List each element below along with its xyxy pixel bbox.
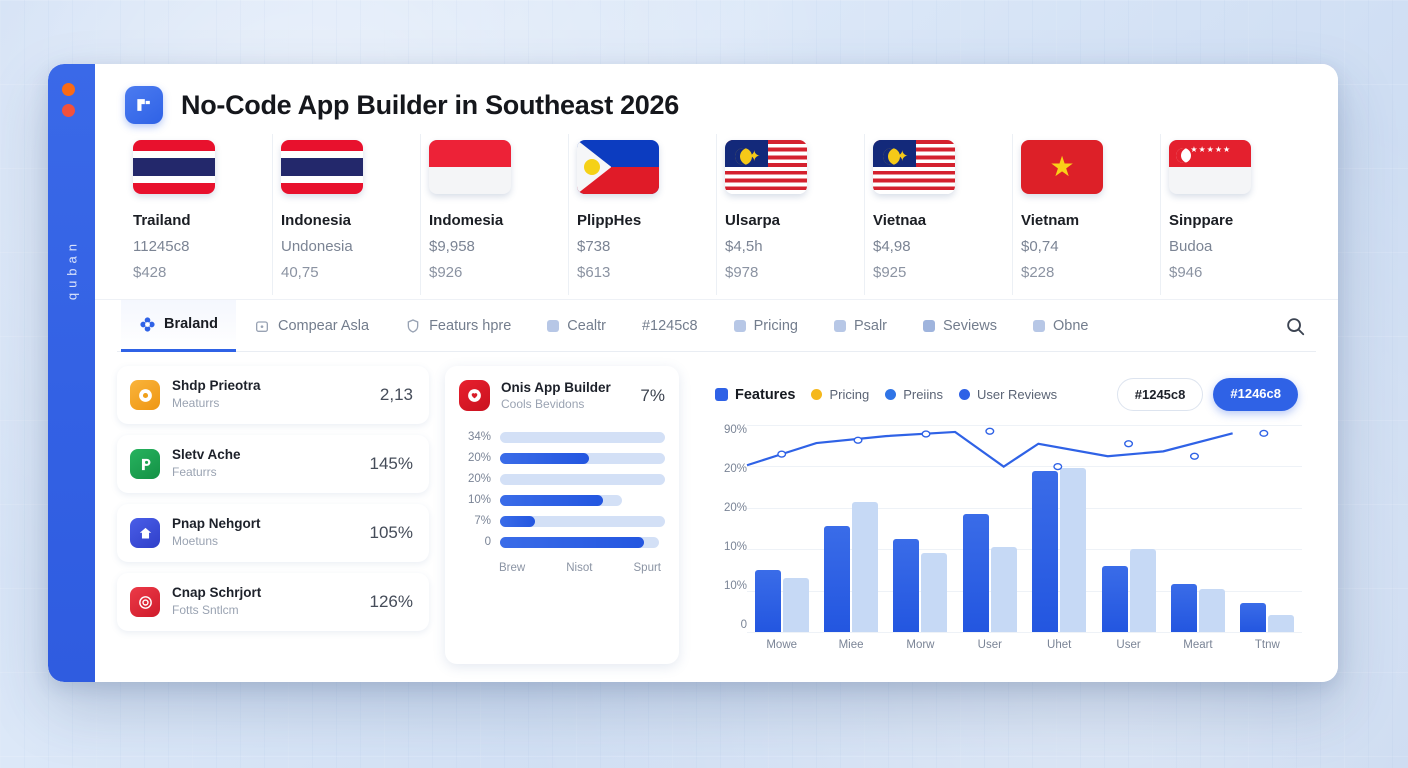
list-item[interactable]: Cnap Schrjort Fotts Sntlcm 126% — [117, 573, 429, 631]
list-item-value: 105% — [370, 523, 413, 543]
country-name: Vietnam — [1021, 212, 1152, 229]
bar-pricing — [783, 578, 809, 632]
list-item[interactable]: Sletv Ache Featurrs 145% — [117, 435, 429, 493]
line-marker — [778, 451, 786, 457]
country-value-secondary: $228 — [1021, 264, 1152, 281]
hbar-label: 0 — [459, 536, 491, 548]
y-tick: 20% — [705, 503, 747, 515]
country-value-secondary: $613 — [577, 264, 708, 281]
country-name: Indonesia — [281, 212, 412, 229]
country-value-primary: $4,98 — [873, 238, 1004, 255]
country-value-secondary: $925 — [873, 264, 1004, 281]
hbar-row: 7% — [459, 515, 665, 527]
line-marker — [1260, 430, 1268, 436]
tab-braland[interactable]: Braland — [121, 300, 236, 352]
mid-card-percent: 7% — [640, 386, 665, 406]
tab-featurs-hpre[interactable]: Featurs hpre — [387, 300, 529, 352]
bar-features — [1102, 566, 1128, 632]
line-markers — [747, 425, 1302, 494]
square-icon — [923, 320, 935, 332]
x-tick: User — [955, 639, 1024, 651]
country-value-secondary: $428 — [133, 264, 264, 281]
tab-label: Featurs hpre — [429, 318, 511, 334]
country-value-primary: Undonesia — [281, 238, 412, 255]
hbar-label: 7% — [459, 515, 491, 527]
bar-features — [1032, 471, 1058, 632]
bar-features — [893, 539, 919, 632]
x-tick: User — [1094, 639, 1163, 651]
y-tick: 10% — [705, 581, 747, 593]
bar-pricing — [1130, 549, 1156, 632]
pill-solid[interactable]: #1246c8 — [1213, 378, 1298, 411]
list-item-subtitle: Featurrs — [172, 464, 358, 480]
country-card[interactable]: Indomesia $9,958 $926 — [421, 134, 569, 295]
country-value-primary: 11245c8 — [133, 238, 264, 255]
x-tick: Morw — [886, 639, 955, 651]
chart-legend: Features Pricing Preiins User Revie — [705, 374, 1302, 411]
tab-bar: Braland Compear Asla Featurs hpre C — [117, 300, 1316, 352]
tab-label: Cealtr — [567, 318, 606, 334]
vietnam-flag-icon: ★ — [1021, 140, 1103, 194]
plot-area: Mowe Miee Morw User Uhet User Meart Ttnw — [747, 425, 1302, 658]
square-icon — [834, 320, 846, 332]
pill-outline[interactable]: #1245c8 — [1117, 378, 1204, 411]
hbar-row: 0 — [459, 536, 665, 548]
country-stats-row: Trailand 11245c8 $428 Indonesia Undonesi… — [125, 134, 1308, 295]
tab-label: Braland — [164, 316, 218, 332]
bar-pricing — [852, 502, 878, 632]
hbar-label: 20% — [459, 473, 491, 485]
country-card[interactable]: ✦ Vietnaa $4,98 $925 — [865, 134, 1013, 295]
country-name: Indomesia — [429, 212, 560, 229]
panels: Shdp Prieotra Meaturrs 2,13 Sletv Ache F… — [117, 352, 1316, 664]
x-tick: Meart — [1163, 639, 1232, 651]
list-item-subtitle: Meaturrs — [172, 395, 368, 411]
mid-card-x-labels: Brew Nisot Spurt — [459, 562, 665, 574]
tab-hex-1245c8[interactable]: #1245c8 — [624, 300, 716, 352]
line-marker — [1125, 441, 1133, 447]
line-marker — [1191, 453, 1199, 459]
search-icon — [1284, 315, 1306, 337]
legend-swatch — [885, 389, 896, 400]
country-value-primary: $4,5h — [725, 238, 856, 255]
square-icon — [1033, 320, 1045, 332]
tab-label: Pricing — [754, 318, 798, 334]
mid-card: Onis App Builder Cools Bevidons 7% 34% 2… — [445, 366, 679, 664]
orange-dot-icon[interactable] — [62, 83, 75, 96]
country-value-primary: $9,958 — [429, 238, 560, 255]
tab-cealtr[interactable]: Cealtr — [529, 300, 624, 352]
country-name: Sinppare — [1169, 212, 1300, 229]
country-value-primary: $0,74 — [1021, 238, 1152, 255]
hbar-track — [500, 474, 665, 485]
legend-label: User Reviews — [977, 387, 1057, 402]
list-item-text: Cnap Schrjort Fotts Sntlcm — [172, 585, 358, 618]
list-item-value: 126% — [370, 592, 413, 612]
letter-p-green-icon — [130, 449, 160, 479]
hbar-label: 34% — [459, 431, 491, 443]
legend-label: Pricing — [829, 387, 869, 402]
x-axis: Mowe Miee Morw User Uhet User Meart Ttnw — [747, 632, 1302, 658]
line-marker — [1054, 464, 1062, 470]
country-value-secondary: $926 — [429, 264, 560, 281]
list-item-text: Sletv Ache Featurrs — [172, 447, 358, 480]
tag-icon — [254, 318, 270, 334]
tab-label: Compear Asla — [278, 318, 369, 334]
list-item[interactable]: Pnap Nehgort Moetuns 105% — [117, 504, 429, 562]
tab-compear-asla[interactable]: Compear Asla — [236, 300, 387, 352]
country-value-primary: $738 — [577, 238, 708, 255]
country-value-secondary: $978 — [725, 264, 856, 281]
bar-pricing — [921, 553, 947, 632]
y-axis: 90% 20% 20% 10% 10% 0 — [705, 425, 747, 658]
country-card[interactable]: ★★★★★ Sinppare Budoa $946 — [1161, 134, 1308, 295]
x-tick: Spurt — [634, 562, 662, 574]
tab-seviews[interactable]: Seviews — [905, 300, 1015, 352]
legend-item-user-reviews: User Reviews — [959, 387, 1057, 402]
heart-red-icon — [459, 380, 490, 411]
x-tick: Nisot — [566, 562, 592, 574]
header: No-Code App Builder in Southeast 2026 Tr… — [95, 64, 1338, 300]
bar-pricing — [991, 547, 1017, 632]
country-value-secondary: 40,75 — [281, 264, 412, 281]
tab-label: Psalr — [854, 318, 887, 334]
hbar-row: 20% — [459, 452, 665, 464]
list-item-value: 145% — [370, 454, 413, 474]
tab-pricing[interactable]: Pricing — [716, 300, 816, 352]
bar-pricing — [1268, 615, 1294, 632]
app-window: quban No-Code App Builder in Southeast 2… — [48, 64, 1338, 682]
thailand-flag-icon — [281, 140, 363, 194]
thailand-flag-icon — [133, 140, 215, 194]
square-icon — [734, 320, 746, 332]
sidebar[interactable]: quban — [48, 64, 95, 682]
line-marker — [854, 437, 862, 443]
country-name: Vietnaa — [873, 212, 1004, 229]
title-row: No-Code App Builder in Southeast 2026 — [125, 86, 1308, 124]
list-item-title: Pnap Nehgort — [172, 516, 358, 533]
list-item-text: Shdp Prieotra Meaturrs — [172, 378, 368, 411]
legend-swatch — [959, 389, 970, 400]
page-title: No-Code App Builder in Southeast 2026 — [181, 90, 679, 121]
list-item-title: Shdp Prieotra — [172, 378, 368, 395]
hbar-track — [500, 432, 665, 443]
x-tick: Mowe — [747, 639, 816, 651]
tab-label: Obne — [1053, 318, 1088, 334]
line-marker — [922, 431, 930, 437]
circle-orange-icon — [130, 380, 160, 410]
line-marker — [986, 428, 994, 434]
philippines-flag-icon — [577, 140, 659, 194]
malaysia-flag-icon: ✦ — [725, 140, 807, 194]
square-icon — [547, 320, 559, 332]
hbar-row: 34% — [459, 431, 665, 443]
plot-wrapper: 90% 20% 20% 10% 10% 0 — [705, 411, 1302, 658]
mid-card-header: Onis App Builder Cools Bevidons 7% — [459, 380, 665, 411]
hbar-track — [500, 495, 622, 506]
bar-features — [1240, 603, 1266, 632]
country-name: Trailand — [133, 212, 264, 229]
country-card[interactable]: ★ Vietnam $0,74 $228 — [1013, 134, 1161, 295]
hbar-track — [500, 516, 665, 527]
x-tick: Uhet — [1025, 639, 1094, 651]
hbar-label: 10% — [459, 494, 491, 506]
hbar-track — [500, 453, 665, 464]
country-card[interactable]: PlippHes $738 $613 — [569, 134, 717, 295]
app-builder-logo-icon — [125, 86, 163, 124]
country-name: Ulsarpa — [725, 212, 856, 229]
window-content: No-Code App Builder in Southeast 2026 Tr… — [95, 64, 1338, 682]
bar-features — [1171, 584, 1197, 632]
list-item[interactable]: Shdp Prieotra Meaturrs 2,13 — [117, 366, 429, 424]
tab-label: #1245c8 — [642, 318, 698, 334]
legend-item-features: Features — [715, 387, 795, 403]
bar-pricing — [1199, 589, 1225, 632]
y-tick: 20% — [705, 464, 747, 476]
country-name: PlippHes — [577, 212, 708, 229]
country-card[interactable]: ✦ Ulsarpa $4,5h $978 — [717, 134, 865, 295]
legend-swatch — [715, 388, 728, 401]
tab-obne[interactable]: Obne — [1015, 300, 1106, 352]
tab-label: Seviews — [943, 318, 997, 334]
red-dot-icon[interactable] — [62, 104, 75, 117]
country-value-primary: Budoa — [1169, 238, 1300, 255]
y-tick: 0 — [705, 620, 747, 632]
legend-item-preiins: Preiins — [885, 387, 943, 402]
hbar-track — [500, 537, 659, 548]
singapore-flag-icon: ★★★★★ — [1169, 140, 1251, 194]
legend-label: Features — [735, 387, 795, 403]
bar-features — [963, 514, 989, 632]
x-tick: Miee — [816, 639, 885, 651]
bar-features — [755, 570, 781, 632]
country-card[interactable]: Indonesia Undonesia 40,75 — [273, 134, 421, 295]
mid-card-bars: 34% 20% 20% 10% — [459, 431, 665, 548]
legend-label: Preiins — [903, 387, 943, 402]
hbar-row: 10% — [459, 494, 665, 506]
country-value-secondary: $946 — [1169, 264, 1300, 281]
chart-pills: #1245c8 #1246c8 — [1117, 378, 1298, 411]
legend-swatch — [811, 389, 822, 400]
indonesia-flag-icon — [429, 140, 511, 194]
mid-card-title: Onis App Builder — [501, 380, 611, 397]
search-button[interactable] — [1264, 315, 1316, 337]
legend-item-pricing: Pricing — [811, 387, 869, 402]
list-panel: Shdp Prieotra Meaturrs 2,13 Sletv Ache F… — [117, 366, 429, 664]
mid-card-subtitle: Cools Bevidons — [501, 397, 611, 411]
hbar-label: 20% — [459, 452, 491, 464]
flower-icon — [139, 316, 156, 333]
list-item-text: Pnap Nehgort Moetuns — [172, 516, 358, 549]
mid-card-text: Onis App Builder Cools Bevidons — [501, 380, 611, 411]
tab-psalr[interactable]: Psalr — [816, 300, 905, 352]
body-area: Braland Compear Asla Featurs hpre C — [95, 300, 1338, 682]
bar-features — [824, 526, 850, 632]
chart-panel: Features Pricing Preiins User Revie — [695, 366, 1316, 664]
list-item-subtitle: Fotts Sntlcm — [172, 602, 358, 618]
target-red-icon — [130, 587, 160, 617]
y-tick: 10% — [705, 542, 747, 554]
x-tick: Ttnw — [1233, 639, 1302, 651]
list-item-subtitle: Moetuns — [172, 533, 358, 549]
country-card[interactable]: Trailand 11245c8 $428 — [125, 134, 273, 295]
shield-icon — [405, 318, 421, 334]
sidebar-vertical-label: quban — [64, 239, 79, 300]
hbar-row: 20% — [459, 473, 665, 485]
home-blue-icon — [130, 518, 160, 548]
list-item-value: 2,13 — [380, 385, 413, 405]
list-item-title: Sletv Ache — [172, 447, 358, 464]
y-tick: 90% — [705, 425, 747, 437]
list-item-title: Cnap Schrjort — [172, 585, 358, 602]
malaysia-flag-icon: ✦ — [873, 140, 955, 194]
x-tick: Brew — [499, 562, 525, 574]
